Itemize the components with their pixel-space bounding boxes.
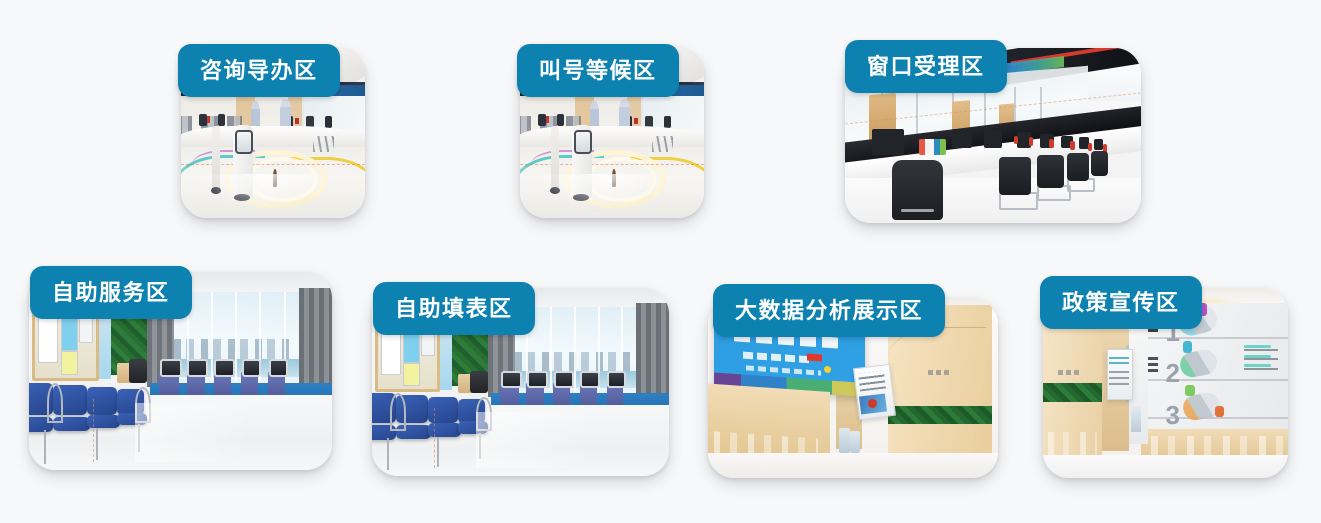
zone-badge-big-data-analysis[interactable]: 大数据分析展示区	[713, 284, 945, 337]
zone-card-consult-guide[interactable]: 咨询导办区	[181, 48, 365, 218]
zone-card-self-service[interactable]: 自助服务区	[29, 272, 332, 470]
zone-badge-window-acceptance[interactable]: 窗口受理区	[845, 40, 1007, 93]
zone-badge-consult-guide[interactable]: 咨询导办区	[178, 44, 340, 97]
zone-card-window-acceptance[interactable]: 窗口受理区	[845, 48, 1141, 223]
zone-card-policy-promotion[interactable]: 1 2 3 政策宣传区	[1043, 288, 1288, 478]
zone-label-window-acceptance: 窗口受理区	[867, 40, 985, 93]
zone-label-self-service: 自助服务区	[52, 266, 170, 319]
wall-number-3: 3	[1166, 400, 1180, 431]
zone-label-consult-guide: 咨询导办区	[200, 44, 318, 97]
zone-card-board: 咨询导办区 叫号等候区	[0, 0, 1321, 523]
zone-badge-self-service[interactable]: 自助服务区	[30, 266, 192, 319]
zone-card-self-form-filling[interactable]: 自助填表区	[372, 288, 669, 476]
wall-number-2: 2	[1166, 358, 1180, 389]
zone-badge-policy-promotion[interactable]: 政策宣传区	[1040, 276, 1202, 329]
zone-badge-self-form-filling[interactable]: 自助填表区	[373, 282, 535, 335]
zone-card-queue-waiting[interactable]: 叫号等候区	[520, 48, 704, 218]
zone-label-big-data-analysis: 大数据分析展示区	[735, 284, 923, 337]
zone-label-self-form-filling: 自助填表区	[395, 282, 513, 335]
zone-label-policy-promotion: 政策宣传区	[1062, 276, 1180, 329]
zone-label-queue-waiting: 叫号等候区	[539, 44, 657, 97]
zone-card-big-data-analysis[interactable]: 大数据分析展示区	[708, 298, 998, 478]
zone-badge-queue-waiting[interactable]: 叫号等候区	[517, 44, 679, 97]
